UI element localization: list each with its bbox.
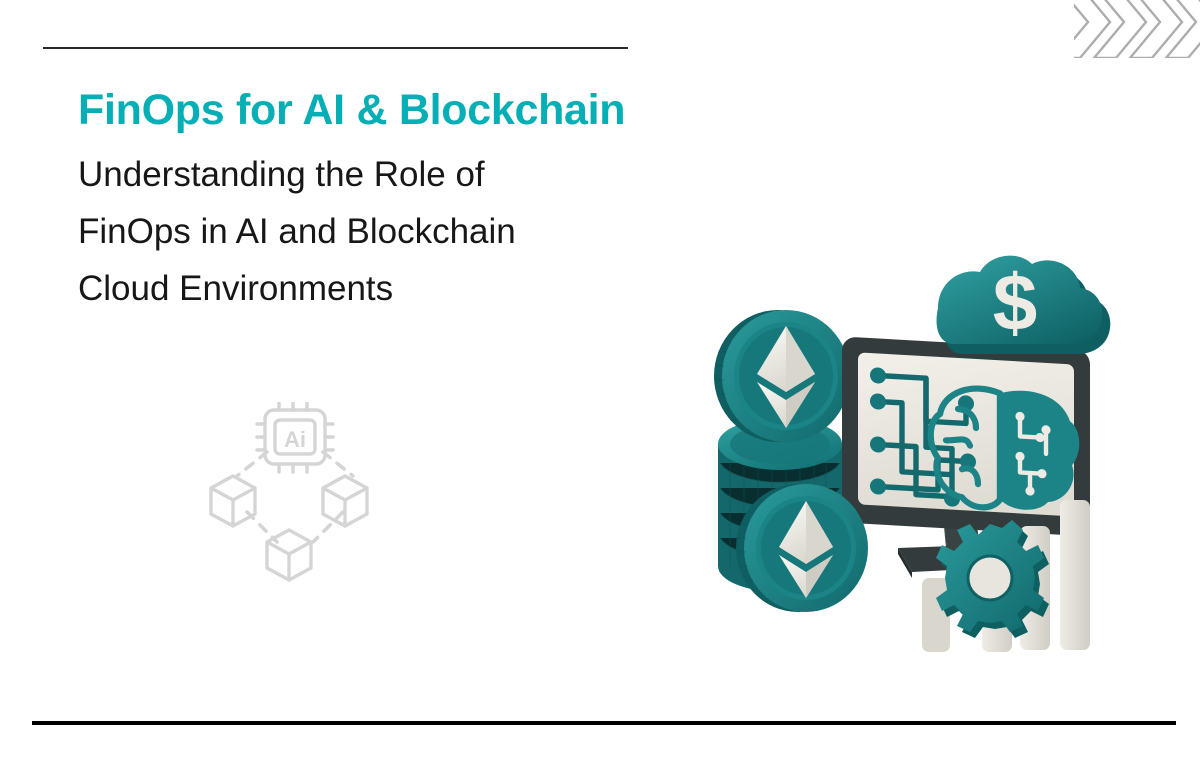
slide-text-block: FinOps for AI & Blockchain Understanding… [78, 88, 718, 317]
chevron-right-decoration [1074, 0, 1200, 58]
subtitle-line-1: Understanding the Role of [78, 147, 718, 204]
ethereum-coin-front [736, 484, 868, 612]
slide-canvas: FinOps for AI & Blockchain Understanding… [0, 0, 1200, 770]
finops-ai-blockchain-3d-illustration: $ [690, 248, 1155, 668]
svg-text:$: $ [993, 258, 1038, 347]
ai-blockchain-network-watermark: Ai [205, 402, 385, 587]
bottom-divider-rule [32, 721, 1176, 725]
subtitle-line-3: Cloud Environments [78, 261, 718, 318]
dollar-sign-icon: $ [993, 258, 1038, 347]
page-title: FinOps for AI & Blockchain [78, 88, 718, 133]
top-divider-rule [43, 47, 628, 49]
ethereum-coin-top [714, 310, 850, 442]
subtitle-line-2: FinOps in AI and Blockchain [78, 204, 718, 261]
slide-subtitle: Understanding the Role of FinOps in AI a… [78, 147, 718, 317]
watermark-chip-label: Ai [284, 427, 306, 452]
cloud-dollar: $ [937, 256, 1111, 354]
